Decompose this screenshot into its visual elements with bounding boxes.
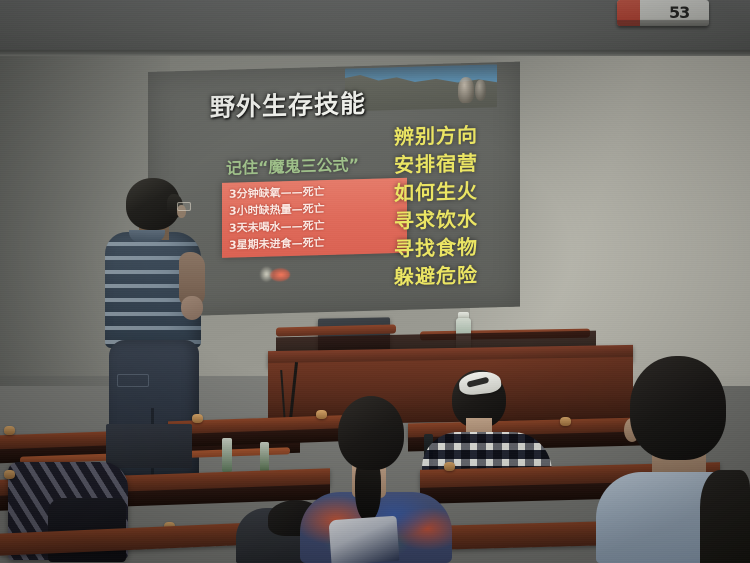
bench-knob <box>316 410 327 419</box>
slide-photo-figure-2 <box>475 80 486 101</box>
presenter-hand <box>181 296 203 320</box>
audience-head-partial <box>700 470 750 563</box>
dark-bench-panel <box>106 424 192 468</box>
yellow-list-item: 辨别方向 <box>394 121 478 151</box>
yellow-list-item: 躲避危险 <box>394 261 478 291</box>
presenter-collar <box>129 230 165 242</box>
slide-photo-figure <box>458 77 474 103</box>
bottle-on-bench <box>222 438 232 472</box>
presenter-glasses <box>177 202 191 211</box>
bottle-on-bench <box>260 442 269 472</box>
yellow-list-item: 寻求饮水 <box>394 205 478 235</box>
bench-knob <box>444 462 455 471</box>
audience-head <box>338 396 404 470</box>
yellow-list-item: 安排宿营 <box>394 149 478 179</box>
slide-subtitle: 记住“魔鬼三公式” <box>226 151 359 179</box>
audience-head <box>630 356 726 460</box>
bench-knob <box>560 417 571 426</box>
laser-pointer-dot <box>270 268 290 282</box>
yellow-list-item: 寻找食物 <box>394 233 478 263</box>
slide-red-box: 3分钟缺氧——死亡 3小时缺热量—死亡 3天未喝水——死亡 3星期未进食—死亡 <box>222 178 407 258</box>
presenter-pocket <box>117 374 149 387</box>
bench-knob <box>4 470 15 479</box>
bench-knob <box>192 414 203 423</box>
yellow-list-item: 如何生火 <box>394 177 478 207</box>
slide-yellow-list: 辨别方向 安排宿营 如何生火 寻求饮水 寻找食物 躲避危险 <box>394 121 478 291</box>
ceiling-sign: 53 <box>617 0 709 26</box>
slide-title: 野外生存技能 <box>210 84 366 124</box>
folded-garment <box>329 516 400 563</box>
classroom-photo: 53 野外生存技能 记住“魔鬼三公式” 3分钟缺氧——死亡 3小时缺热量—死亡 … <box>0 0 750 563</box>
sign-shadow <box>617 20 709 26</box>
bench-knob <box>4 426 15 435</box>
